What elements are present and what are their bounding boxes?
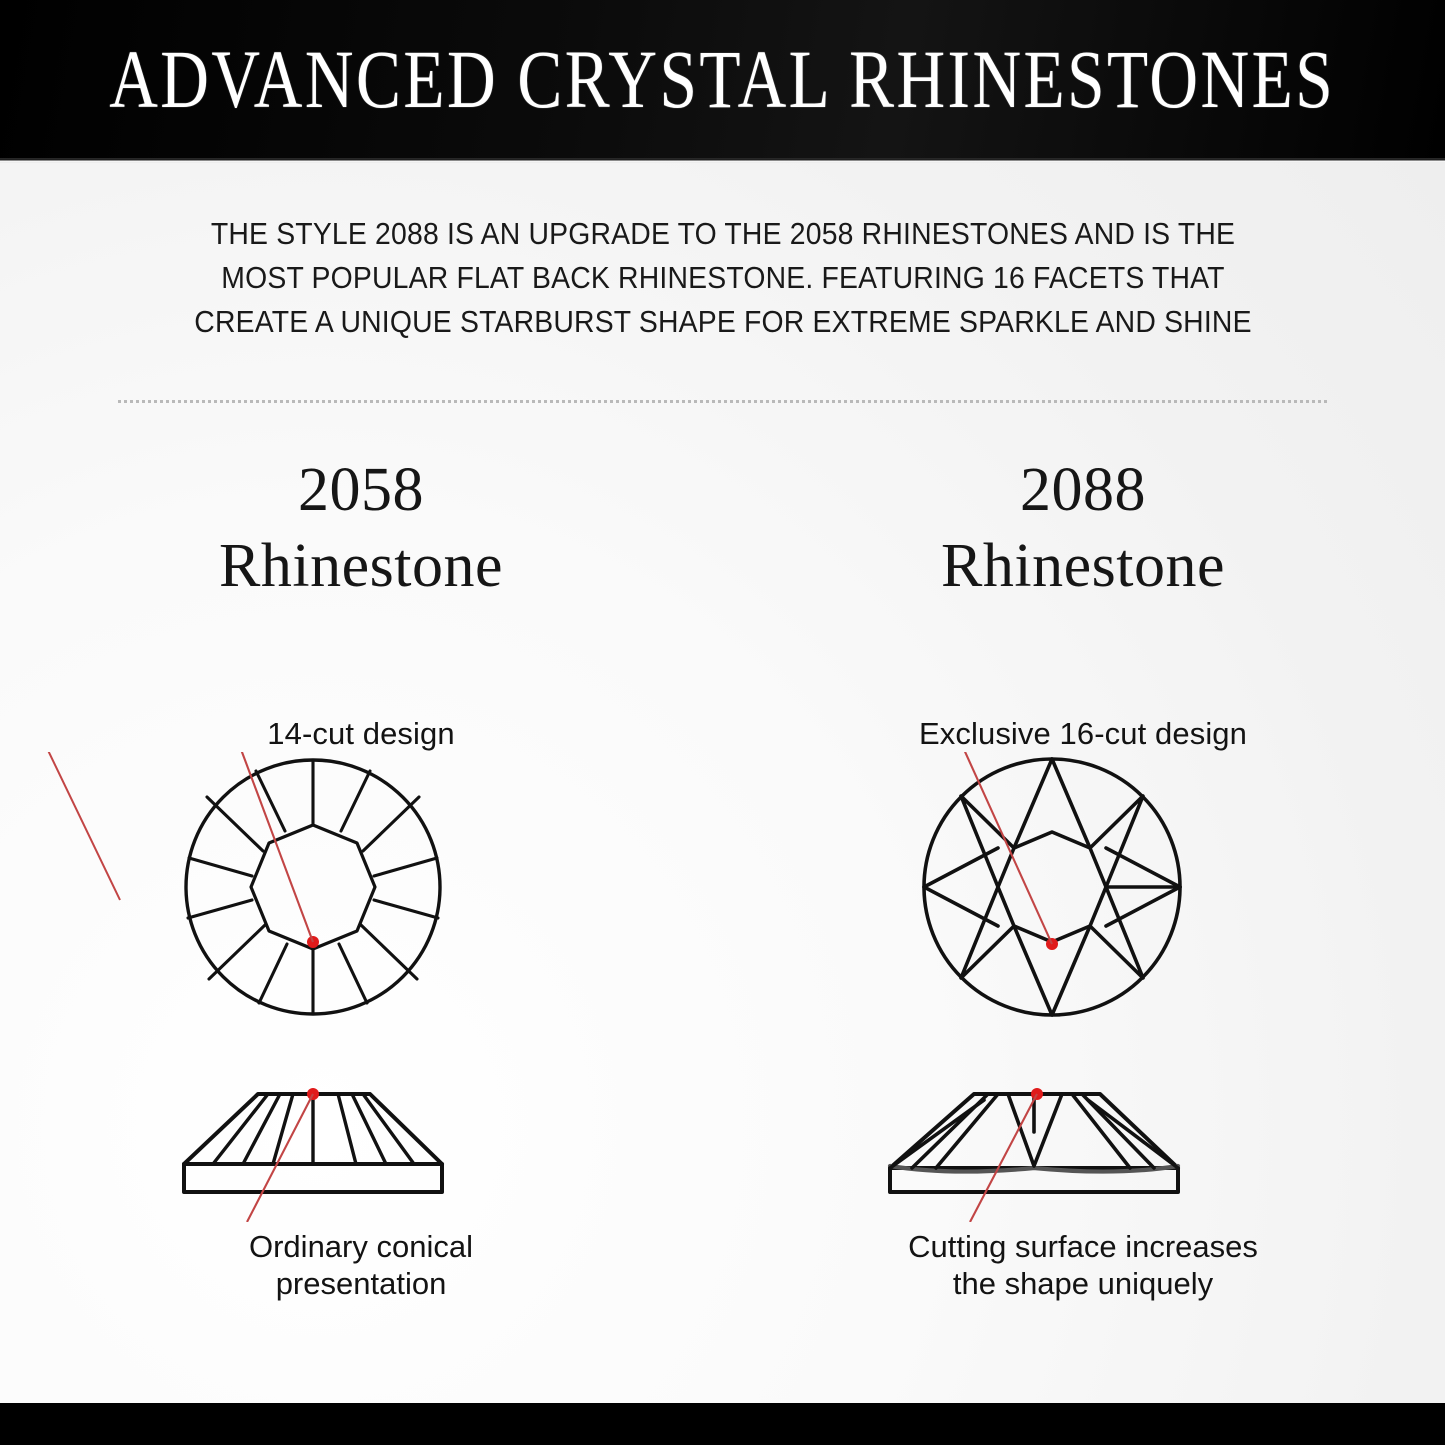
infographic-page: ADVANCED CRYSTAL RHINESTONES THE STYLE 2… bbox=[0, 0, 1445, 1445]
facet-lines-2058 bbox=[188, 760, 438, 1014]
intro-line-3: CREATE A UNIQUE STARBURST SHAPE FOR EXTR… bbox=[155, 300, 1290, 344]
caption-2088-line-1: Cutting surface increases bbox=[722, 1228, 1444, 1265]
footer-bar bbox=[0, 1403, 1445, 1445]
intro-paragraph: THE STYLE 2088 IS AN UPGRADE TO THE 2058… bbox=[113, 212, 1333, 344]
caption-2088-line-2: the shape uniquely bbox=[722, 1265, 1444, 1302]
header-divider-rule bbox=[0, 158, 1445, 163]
page-title: ADVANCED CRYSTAL RHINESTONES bbox=[110, 38, 1336, 121]
intro-line-1: THE STYLE 2088 IS AN UPGRADE TO THE 2058… bbox=[155, 212, 1290, 256]
starburst-points-2088 bbox=[924, 759, 1180, 1015]
column-2058: 2058 Rhinestone 14-cut design bbox=[0, 452, 722, 1352]
column-2088-title-number: 2088 bbox=[722, 452, 1444, 528]
header-banner: ADVANCED CRYSTAL RHINESTONES bbox=[0, 0, 1445, 158]
diagram-2088-side-view bbox=[722, 1072, 1444, 1222]
column-2058-title-number: 2058 bbox=[0, 452, 722, 528]
label-14-cut-design: 14-cut design bbox=[0, 716, 722, 752]
base-slab-2058 bbox=[184, 1164, 442, 1192]
leader-line-2058-side bbox=[247, 1094, 313, 1222]
leader-line-2058-top bbox=[44, 752, 120, 900]
caption-2058-side: Ordinary conical presentation bbox=[0, 1228, 722, 1302]
diagram-2058-top-view bbox=[0, 752, 722, 1022]
caption-2088-side: Cutting surface increases the shape uniq… bbox=[722, 1228, 1444, 1302]
column-2088-title: 2088 Rhinestone bbox=[722, 452, 1444, 604]
leader-line-2088-top bbox=[957, 752, 1052, 944]
intro-line-2: MOST POPULAR FLAT BACK RHINESTONE. FEATU… bbox=[155, 256, 1290, 300]
column-2088-title-word: Rhinestone bbox=[722, 528, 1444, 604]
leader-line-2058-top-main bbox=[236, 752, 313, 942]
comparison-columns: 2058 Rhinestone 14-cut design bbox=[0, 452, 1445, 1352]
column-2088: 2088 Rhinestone Exclusive 16-cut design bbox=[722, 452, 1444, 1352]
diagram-2058-side-view bbox=[0, 1072, 722, 1222]
caption-2058-line-2: presentation bbox=[0, 1265, 722, 1302]
facet-lines-side-2058 bbox=[213, 1094, 414, 1164]
table-octagon-2058 bbox=[251, 825, 375, 949]
column-2058-title-word: Rhinestone bbox=[0, 528, 722, 604]
label-16-cut-design: Exclusive 16-cut design bbox=[722, 716, 1444, 752]
column-2058-title: 2058 Rhinestone bbox=[0, 452, 722, 604]
diagram-2088-top-view bbox=[722, 752, 1444, 1022]
caption-2058-line-1: Ordinary conical bbox=[0, 1228, 722, 1265]
section-divider bbox=[118, 400, 1330, 403]
